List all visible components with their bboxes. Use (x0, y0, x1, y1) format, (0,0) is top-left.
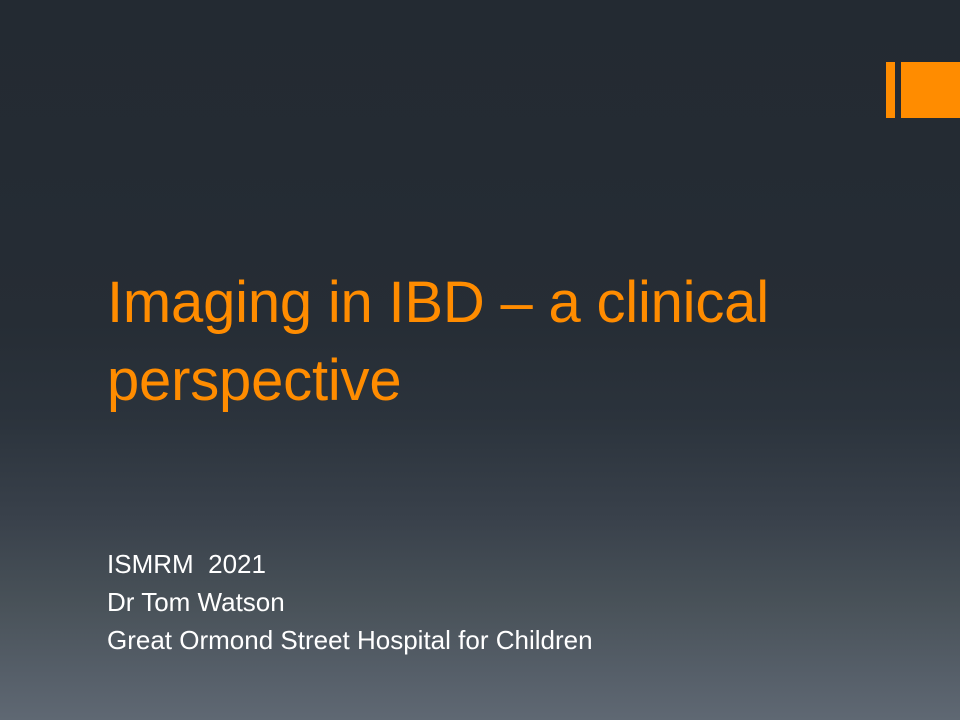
subtitle-block: ISMRM 2021 Dr Tom Watson Great Ormond St… (107, 545, 867, 659)
subtitle-line-event: ISMRM 2021 (107, 545, 867, 583)
orange-accent-block-icon (901, 62, 960, 118)
slide-title: Imaging in IBD – a clinical perspective (107, 264, 867, 420)
title-block: Imaging in IBD – a clinical perspective (107, 264, 867, 420)
subtitle-line-presenter: Dr Tom Watson (107, 583, 867, 621)
title-slide: Imaging in IBD – a clinical perspective … (0, 0, 960, 720)
subtitle-line-affiliation: Great Ormond Street Hospital for Childre… (107, 621, 867, 659)
orange-accent-bar-icon (886, 62, 895, 118)
